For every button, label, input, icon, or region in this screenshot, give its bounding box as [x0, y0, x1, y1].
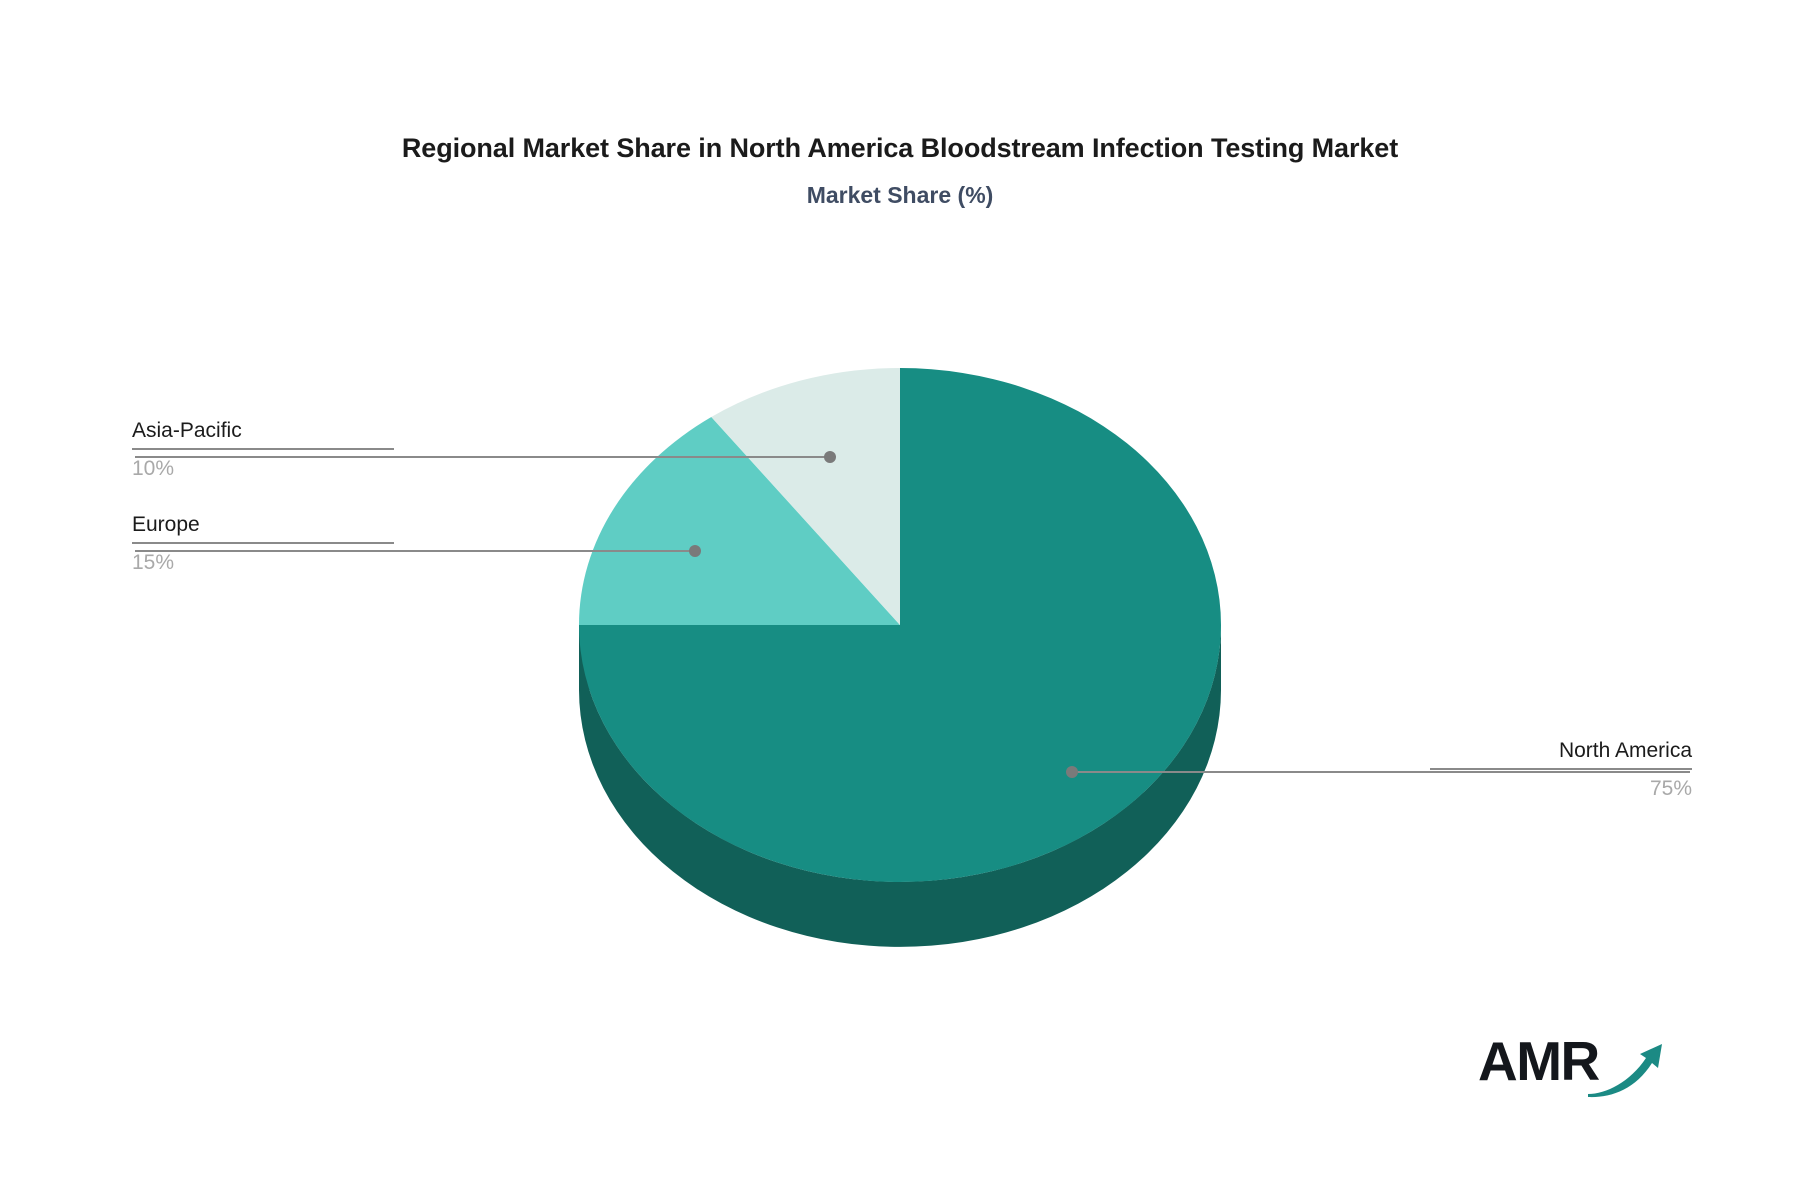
leader-dot-europe	[689, 545, 701, 557]
callout-europe: Europe 15%	[132, 512, 394, 577]
amr-logo-text: AMR	[1478, 1034, 1599, 1089]
callout-asia-pacific: Asia-Pacific 10%	[132, 418, 394, 483]
callout-value-europe: 15%	[132, 544, 394, 576]
callout-label-europe: Europe	[132, 512, 394, 542]
pie-chart-graphic	[0, 0, 1800, 1196]
growth-arrow-icon	[1586, 1036, 1668, 1098]
callout-north-america: North America 75%	[1430, 738, 1692, 803]
leader-dot-north-america	[1066, 766, 1078, 778]
callout-value-north-america: 75%	[1430, 770, 1692, 802]
amr-logo: AMR	[1478, 1028, 1668, 1102]
callout-value-asia-pacific: 10%	[132, 450, 394, 482]
callout-label-north-america: North America	[1430, 738, 1692, 768]
chart-canvas: Regional Market Share in North America B…	[0, 0, 1800, 1196]
callout-label-asia-pacific: Asia-Pacific	[132, 418, 394, 448]
leader-dot-asia-pacific	[824, 451, 836, 463]
